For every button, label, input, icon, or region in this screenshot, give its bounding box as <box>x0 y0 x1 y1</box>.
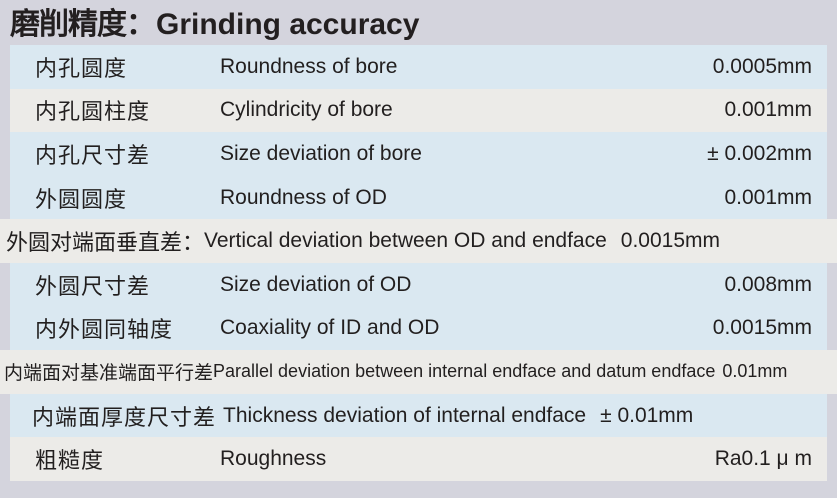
row-value: 0.001mm <box>724 186 827 210</box>
row-label-english: Coaxiality of ID and OD <box>220 316 713 340</box>
table-row: 内端面对基准端面平行差Parallel deviation between in… <box>0 350 837 394</box>
row-label-chinese: 内孔尺寸差 <box>10 138 220 170</box>
row-label-chinese: 外圆圆度 <box>10 182 220 214</box>
page-title-separator: ： <box>126 8 156 41</box>
page-title: 磨削精度：Grinding accuracy <box>0 0 837 45</box>
row-value: 0.0015mm <box>713 316 827 340</box>
row-label-english: Vertical deviation between OD and endfac… <box>204 229 607 253</box>
row-label-chinese: 粗糙度 <box>10 443 220 475</box>
row-label-chinese: 外圆对端面垂直差 <box>6 225 182 257</box>
table-row: 内孔圆度 Roundness of bore 0.0005mm <box>10 45 827 89</box>
row-label-english: Size deviation of OD <box>220 273 724 297</box>
grinding-accuracy-table: 内孔圆度 Roundness of bore 0.0005mm 内孔圆柱度 Cy… <box>0 45 837 481</box>
row-label-english: Cylindricity of bore <box>220 98 724 122</box>
row-label-chinese: 外圆尺寸差 <box>10 269 220 301</box>
row-label-english: Thickness deviation of internal endface <box>223 404 586 428</box>
row-separator: ： <box>182 225 204 257</box>
row-label-english: Size deviation of bore <box>220 142 707 166</box>
table-row: 内外圆同轴度 Coaxiality of ID and OD 0.0015mm <box>10 307 827 351</box>
row-label-english: Parallel deviation between internal endf… <box>213 361 715 382</box>
row-label-english: Roughness <box>220 447 715 471</box>
row-value: Ra0.1 μ m <box>715 447 827 471</box>
row-label-chinese: 内端面厚度尺寸差 <box>32 400 216 432</box>
row-label-chinese: 内端面对基准端面平行差 <box>4 358 213 385</box>
row-value: 0.01mm <box>722 361 787 382</box>
row-label-chinese: 内孔圆柱度 <box>10 94 220 126</box>
grinding-accuracy-page: 磨削精度：Grinding accuracy 内孔圆度 Roundness of… <box>0 0 837 498</box>
table-row: 内孔圆柱度 Cylindricity of bore 0.001mm <box>10 89 827 133</box>
row-value: ± 0.01mm <box>600 404 693 428</box>
row-value: ± 0.002mm <box>707 142 827 166</box>
table-row: 外圆圆度 Roundness of OD 0.001mm <box>10 176 827 220</box>
row-label-chinese: 内孔圆度 <box>10 51 220 83</box>
row-value: 0.0005mm <box>713 55 827 79</box>
table-row: 内孔尺寸差 Size deviation of bore ± 0.002mm <box>10 132 827 176</box>
row-label-english: Roundness of OD <box>220 186 724 210</box>
table-row: 内端面厚度尺寸差Thickness deviation of internal … <box>10 394 827 438</box>
row-value: 0.0015mm <box>621 229 720 253</box>
page-title-english: Grinding accuracy <box>156 8 419 41</box>
table-row: 外圆对端面垂直差：Vertical deviation between OD a… <box>0 219 837 263</box>
page-title-chinese: 磨削精度 <box>10 8 126 41</box>
table-row: 外圆尺寸差 Size deviation of OD 0.008mm <box>10 263 827 307</box>
row-value: 0.001mm <box>724 98 827 122</box>
row-label-english: Roundness of bore <box>220 55 713 79</box>
row-label-chinese: 内外圆同轴度 <box>10 312 220 344</box>
table-row: 粗糙度 Roughness Ra0.1 μ m <box>10 437 827 481</box>
row-value: 0.008mm <box>724 273 827 297</box>
